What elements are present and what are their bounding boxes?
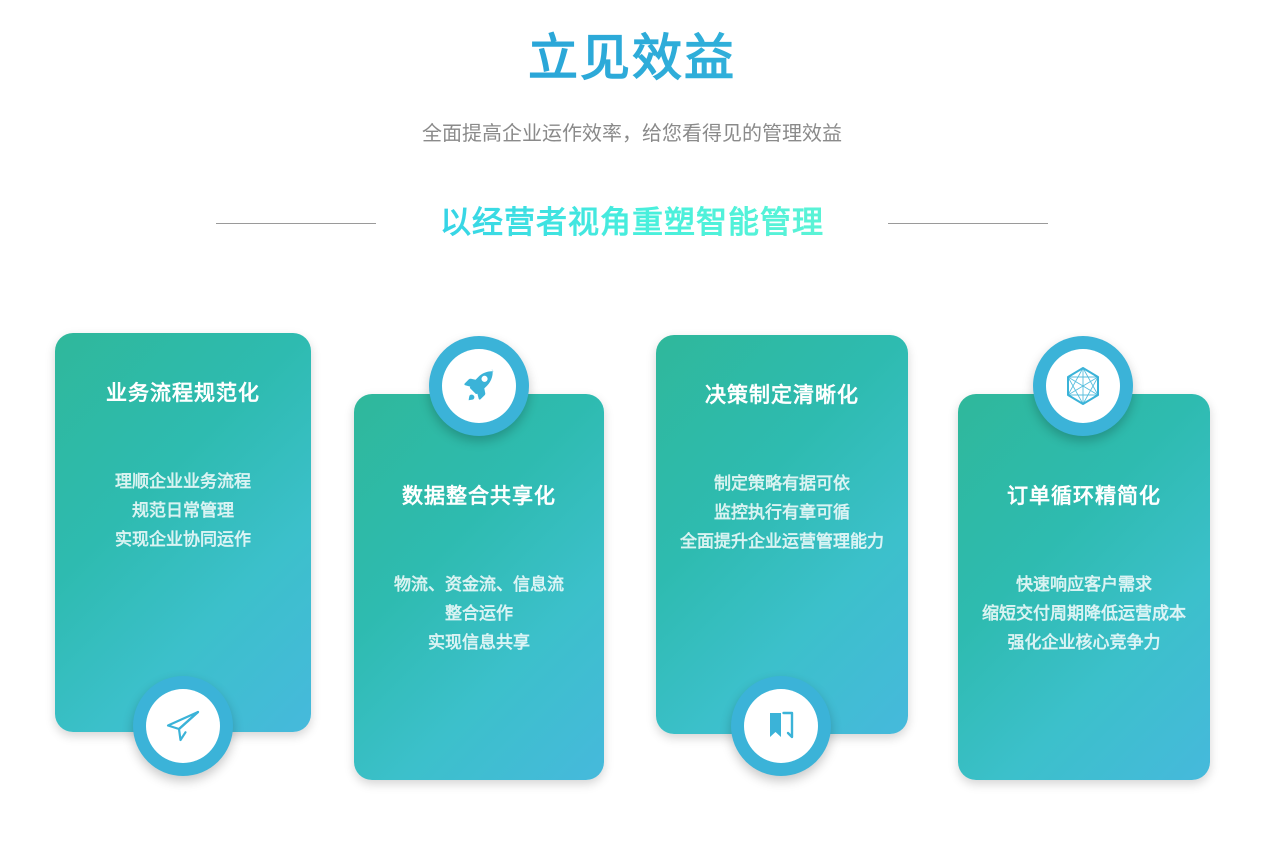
bookmark-icon	[744, 689, 818, 763]
paper-plane-icon	[146, 689, 220, 763]
card-title: 订单循环精简化	[968, 482, 1200, 512]
card-icon-badge[interactable]	[1033, 336, 1133, 436]
card-body: 制定策略有据可依监控执行有章可循全面提升企业运营管理能力	[670, 469, 894, 556]
card-body: 物流、资金流、信息流整合运作实现信息共享	[368, 570, 590, 657]
card-title: 决策制定清晰化	[666, 381, 898, 411]
benefit-card[interactable]: 订单循环精简化 快速响应客户需求缩短交付周期降低运营成本强化企业核心竞争力	[958, 394, 1210, 780]
benefits-page: 立见效益 全面提高企业运作效率，给您看得见的管理效益 以经营者视角重塑智能管理 …	[0, 0, 1264, 859]
card-title: 业务流程规范化	[65, 379, 301, 409]
card-body: 快速响应客户需求缩短交付周期降低运营成本强化企业核心竞争力	[972, 570, 1196, 657]
hexagon-network-icon	[1046, 349, 1120, 423]
benefit-card-list: 业务流程规范化 理顺企业业务流程规范日常管理实现企业协同运作 数据整合共享化 物…	[0, 0, 1264, 859]
rocket-icon	[442, 349, 516, 423]
card-body: 理顺企业业务流程规范日常管理实现企业协同运作	[69, 467, 297, 554]
card-icon-badge[interactable]	[133, 676, 233, 776]
benefit-card[interactable]: 业务流程规范化 理顺企业业务流程规范日常管理实现企业协同运作	[55, 333, 311, 732]
card-title: 数据整合共享化	[364, 482, 594, 512]
card-icon-badge[interactable]	[429, 336, 529, 436]
card-icon-badge[interactable]	[731, 676, 831, 776]
benefit-card[interactable]: 数据整合共享化 物流、资金流、信息流整合运作实现信息共享	[354, 394, 604, 780]
benefit-card[interactable]: 决策制定清晰化 制定策略有据可依监控执行有章可循全面提升企业运营管理能力	[656, 335, 908, 734]
